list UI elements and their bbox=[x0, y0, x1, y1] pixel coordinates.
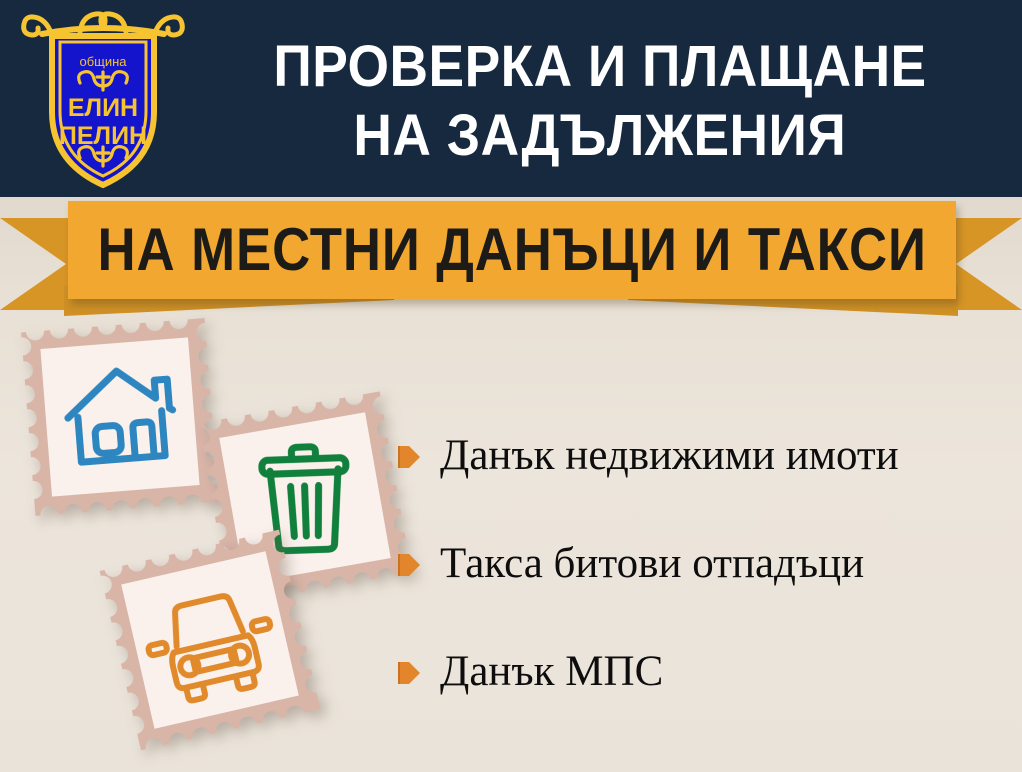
arrow-bullet-icon bbox=[398, 660, 422, 686]
arrow-bullet-icon bbox=[398, 552, 422, 578]
tax-type-list: Данък недвижими имоти Такса битови отпад… bbox=[398, 425, 1008, 749]
list-item[interactable]: Такса битови отпадъци bbox=[398, 533, 1008, 593]
municipality-logo: община ЕЛИН ПЕЛИН bbox=[18, 4, 188, 194]
ribbon-band: НА МЕСТНИ ДАНЪЦИ И ТАКСИ bbox=[68, 201, 956, 299]
title-line-2: НА ЗАДЪЛЖЕНИЯ bbox=[354, 102, 847, 170]
list-item-label: Данък МПС bbox=[440, 650, 663, 693]
poster-canvas: община ЕЛИН ПЕЛИН ПРОВЕРКА И ПЛАЩАНЕ НА … bbox=[0, 0, 1022, 772]
subtitle-ribbon: НА МЕСТНИ ДАНЪЦИ И ТАКСИ bbox=[0, 196, 1022, 316]
arrow-bullet-icon bbox=[398, 444, 422, 470]
title-line-1: ПРОВЕРКА И ПЛАЩАНЕ bbox=[273, 33, 926, 101]
list-item[interactable]: Данък недвижими имоти bbox=[398, 425, 1008, 485]
list-item-label: Такса битови отпадъци bbox=[440, 542, 864, 585]
poster-title: ПРОВЕРКА И ПЛАЩАНЕ НА ЗАДЪЛЖЕНИЯ bbox=[190, 14, 1010, 189]
ribbon-label: НА МЕСТНИ ДАНЪЦИ И ТАКСИ bbox=[97, 220, 926, 280]
list-item-label: Данък недвижими имоти bbox=[440, 434, 899, 477]
logo-text-obshtina: община bbox=[79, 54, 127, 69]
list-item[interactable]: Данък МПС bbox=[398, 641, 1008, 701]
logo-text-elin: ЕЛИН bbox=[68, 94, 138, 122]
